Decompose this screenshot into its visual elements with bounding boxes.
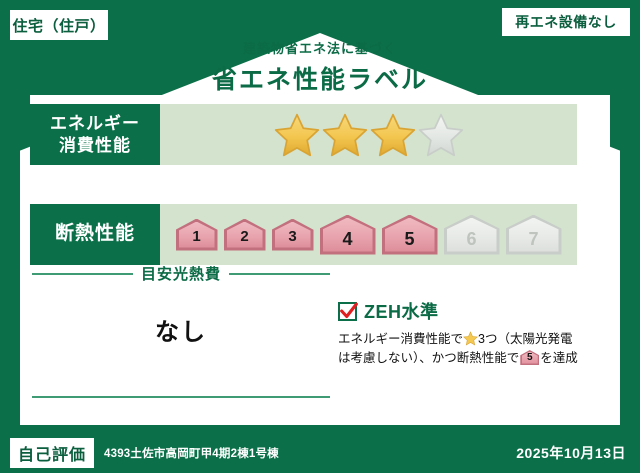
zeh-desc-part2: は考慮しない）、かつ断熱性能で <box>338 351 519 365</box>
star-icon-4 <box>418 112 464 158</box>
level-badge-value: 5 <box>404 230 414 253</box>
insulation-level-7: 7 <box>506 215 562 255</box>
level-badge-value: 2 <box>240 229 248 249</box>
zeh-description: エネルギー消費性能で 3つ（太陽光発電 は考慮しない）、かつ断熱性能で 5 を達… <box>338 330 606 368</box>
inline-star-icon <box>463 331 478 346</box>
energy-performance-label: エネルギー 消費性能 <box>30 104 160 165</box>
energy-performance-row: エネルギー 消費性能 <box>30 104 577 165</box>
insulation-performance-row: 断熱性能 1234567 <box>30 204 577 265</box>
evaluation-type-badge: 自己評価 <box>10 438 94 468</box>
level-badge-value: 6 <box>466 230 476 253</box>
insulation-performance-label: 断熱性能 <box>30 204 160 265</box>
energy-label-line1: エネルギー <box>50 113 140 135</box>
energy-cost-bottom-divider <box>32 396 330 398</box>
inline-badge-value: 5 <box>520 350 539 365</box>
level-badge-value: 3 <box>288 229 296 249</box>
insulation-level-4: 4 <box>320 215 376 255</box>
insulation-label-text: 断熱性能 <box>55 222 135 246</box>
energy-label-root: 住宅（住戸） 再エネ設備なし 建築物省エネ法に基づく 省エネ性能ラベル エネルギ… <box>0 0 640 473</box>
insulation-level-3: 3 <box>272 219 314 251</box>
title-main: 省エネ性能ラベル <box>0 60 640 96</box>
energy-cost-value: なし <box>32 312 330 347</box>
level-badge-value: 7 <box>528 230 538 253</box>
energy-label-line2: 消費性能 <box>59 135 131 157</box>
star-icon-2 <box>322 112 368 158</box>
energy-cost-heading-text: 目安光熱費 <box>141 263 221 284</box>
zeh-desc-part1: エネルギー消費性能で <box>338 332 463 346</box>
property-address: 4393土佐市高岡町甲4期2棟1号棟 <box>104 445 279 461</box>
star-icon-1 <box>274 112 320 158</box>
insulation-level-2: 2 <box>224 219 266 251</box>
zeh-title-text: ZEH水準 <box>364 298 439 324</box>
zeh-title-row: ZEH水準 <box>338 298 606 324</box>
star-icon-3 <box>370 112 416 158</box>
zeh-desc-part3: を達成 <box>540 351 578 365</box>
insulation-level-scale: 1234567 <box>160 204 577 265</box>
insulation-level-6: 6 <box>444 215 500 255</box>
star-rating <box>160 104 577 165</box>
label-title: 建築物省エネ法に基づく 省エネ性能ラベル <box>0 38 640 96</box>
insulation-level-5: 5 <box>382 215 438 255</box>
energy-cost-heading: 目安光熱費 <box>32 263 330 284</box>
level-badge-value: 1 <box>192 229 200 249</box>
inline-insulation-badge: 5 <box>520 350 539 365</box>
renewable-equipment-badge: 再エネ設備なし <box>502 8 630 36</box>
issue-date: 2025年10月13日 <box>516 443 626 463</box>
divider-right <box>229 273 330 275</box>
zeh-section: ZEH水準 エネルギー消費性能で 3つ（太陽光発電 は考慮しない）、かつ断熱性能… <box>338 298 606 368</box>
zeh-checkbox[interactable] <box>338 302 357 321</box>
divider-left <box>32 273 133 275</box>
building-type-badge: 住宅（住戸） <box>10 10 108 40</box>
zeh-desc-stars: 3つ（太陽光発電 <box>478 332 572 346</box>
level-badge-value: 4 <box>342 230 352 253</box>
footer-bar: 自己評価 4393土佐市高岡町甲4期2棟1号棟 2025年10月13日 <box>0 433 640 473</box>
insulation-level-1: 1 <box>176 219 218 251</box>
title-subtitle: 建築物省エネ法に基づく <box>0 38 640 57</box>
